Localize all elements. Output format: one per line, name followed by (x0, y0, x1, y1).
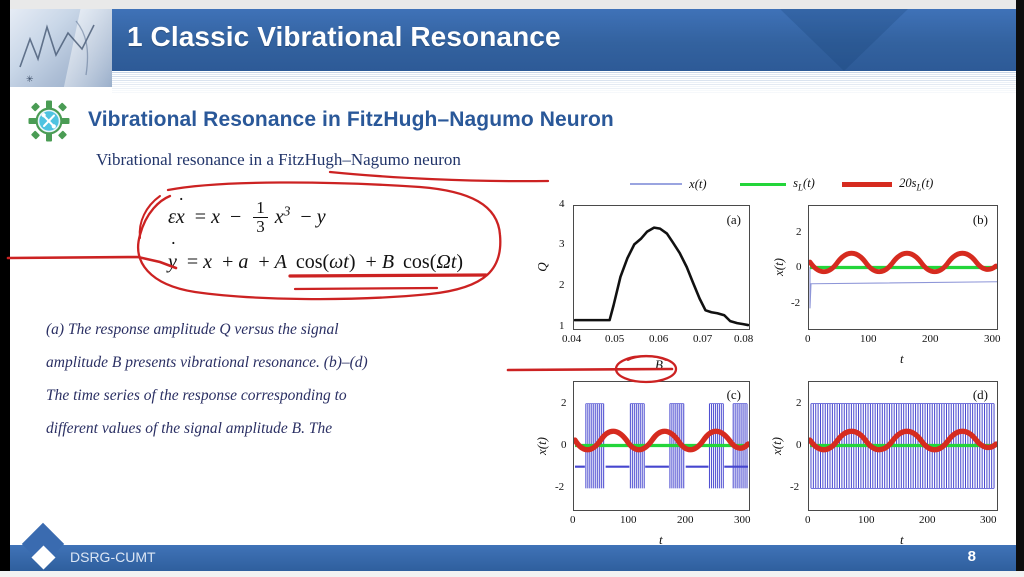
legend-label-20sl-of-t: 20sL(t) (899, 176, 933, 193)
chart-a-ytick-4: 4 (559, 198, 565, 210)
figure-panel: x(t) sL(t) 20sL(t) (a) 4 3 2 1 Q (520, 176, 1016, 536)
chart-a-ytick-3: 3 (559, 238, 565, 250)
slide-right-gutter (1016, 0, 1024, 577)
chart-b-ytick-0: 0 (796, 261, 802, 273)
equation-2: y = x + a + A cos(ωt) + B cos(Ωt) (168, 251, 463, 274)
title-underline-stripes-fade (112, 71, 1016, 93)
chart-a-xtick-004: 0.04 (562, 333, 581, 345)
chart-c-xtick-0: 0 (570, 514, 576, 526)
waveform-icon (16, 19, 104, 79)
legend-item-sl-of-t: sL(t) (740, 176, 815, 193)
chart-panel-d: (d) 2 0 -2 x(t) 0 100 200 300 t (808, 381, 998, 511)
chart-panel-a: (a) 4 3 2 1 Q 0.04 0.05 0.06 0.07 0.08 B (573, 205, 750, 330)
chart-b-axes: (b) (808, 205, 998, 330)
chart-d-xtick-200: 200 (919, 514, 936, 526)
legend-label-x-of-t: x(t) (689, 177, 706, 192)
figure-legend: x(t) sL(t) 20sL(t) (630, 176, 970, 198)
chart-a-ytick-2: 2 (559, 279, 565, 291)
chart-a-xtick-005: 0.05 (605, 333, 624, 345)
chart-a-xlabel: B (655, 357, 663, 373)
chart-c-xtick-200: 200 (677, 514, 694, 526)
footer-label: DSRG-CUMT (70, 549, 156, 565)
chart-d-xtick-100: 100 (858, 514, 875, 526)
chart-a-ylabel: Q (535, 262, 551, 271)
gear-icon (28, 100, 70, 142)
chart-b-panel-label: (b) (973, 212, 988, 228)
slide-left-gutter (0, 0, 10, 577)
legend-item-x-of-t: x(t) (630, 176, 707, 192)
caption-line-4: different values of the signal amplitude… (46, 412, 476, 445)
equation-1: εx = x − 13 x3 − y (168, 200, 463, 237)
chart-c-axes: (c) (573, 381, 750, 511)
decorative-corner-image: ✳ (10, 9, 112, 87)
figure-subheading: Vibrational resonance in a FitzHugh–Nagu… (96, 150, 461, 170)
chart-c-plot (574, 382, 749, 510)
chart-c-ytick-neg2: -2 (555, 481, 564, 493)
caption-line-2: amplitude B presents vibrational resonan… (46, 346, 476, 379)
chart-d-xtick-300: 300 (980, 514, 997, 526)
chart-a-xtick-008: 0.08 (734, 333, 753, 345)
chart-d-ytick-0: 0 (796, 439, 802, 451)
page-number: 8 (968, 548, 976, 565)
chart-c-xtick-100: 100 (620, 514, 637, 526)
chart-d-xtick-0: 0 (805, 514, 811, 526)
decorative-star: ✳ (26, 75, 34, 84)
chart-c-panel-label: (c) (727, 387, 741, 403)
chart-b-ytick-2: 2 (796, 226, 802, 238)
chart-a-ytick-1: 1 (559, 320, 565, 332)
slide-title-bar: 1 Classic Vibrational Resonance (112, 9, 1016, 71)
chart-d-axes: (d) (808, 381, 998, 511)
chart-d-ytick-neg2: -2 (790, 481, 799, 493)
section-heading: Vibrational Resonance in FitzHugh–Nagumo… (88, 108, 614, 132)
legend-label-sl-of-t: sL(t) (793, 176, 815, 193)
title-bar-triangle-decoration (780, 9, 908, 71)
legend-swatch-20sl-of-t (842, 182, 892, 187)
chart-panel-c: (c) 2 0 -2 x(t) 0 100 200 300 t (573, 381, 750, 511)
chart-c-ytick-0: 0 (561, 439, 567, 451)
legend-swatch-x-of-t (630, 183, 682, 184)
chart-d-ylabel: x(t) (769, 437, 785, 455)
caption-line-1: (a) The response amplitude Q versus the … (46, 313, 476, 346)
chart-a-xtick-007: 0.07 (693, 333, 712, 345)
chart-a-xtick-006: 0.06 (649, 333, 668, 345)
slide-top-edge (0, 0, 1024, 9)
chart-b-xtick-200: 200 (922, 333, 939, 345)
chart-a-axes: (a) (573, 205, 750, 330)
slide-root: ✳ 1 Classic Vibrational Resonance (0, 0, 1024, 577)
chart-a-plot (574, 206, 749, 329)
caption-line-3: The time series of the response correspo… (46, 379, 476, 412)
chart-b-xtick-100: 100 (860, 333, 877, 345)
chart-c-ytick-2: 2 (561, 397, 567, 409)
chart-c-ylabel: x(t) (534, 437, 550, 455)
chart-b-xtick-0: 0 (805, 333, 811, 345)
figure-caption: (a) The response amplitude Q versus the … (46, 313, 476, 445)
chart-b-xlabel: t (900, 351, 904, 367)
chart-panel-b: (b) 2 0 -2 x(t) 0 100 200 300 t (808, 205, 998, 330)
chart-c-xtick-300: 300 (734, 514, 751, 526)
slide-bottom-edge (0, 571, 1024, 577)
chart-a-panel-label: (a) (727, 212, 741, 228)
chart-b-plot (809, 206, 997, 329)
chart-d-plot (809, 382, 997, 510)
chart-b-ylabel: x(t) (771, 258, 787, 276)
slide-footer: DSRG-CUMT 8 (10, 545, 1016, 571)
chart-b-xtick-300: 300 (984, 333, 1001, 345)
slide-title: 1 Classic Vibrational Resonance (127, 21, 561, 53)
chart-d-ytick-2: 2 (796, 397, 802, 409)
legend-swatch-sl-of-t (740, 183, 786, 186)
equation-block: εx = x − 13 x3 − y y = x + a + A cos(ωt)… (168, 200, 463, 274)
chart-d-panel-label: (d) (973, 387, 988, 403)
legend-item-20sl-of-t: 20sL(t) (842, 176, 933, 193)
chart-b-ytick-neg2: -2 (791, 297, 800, 309)
